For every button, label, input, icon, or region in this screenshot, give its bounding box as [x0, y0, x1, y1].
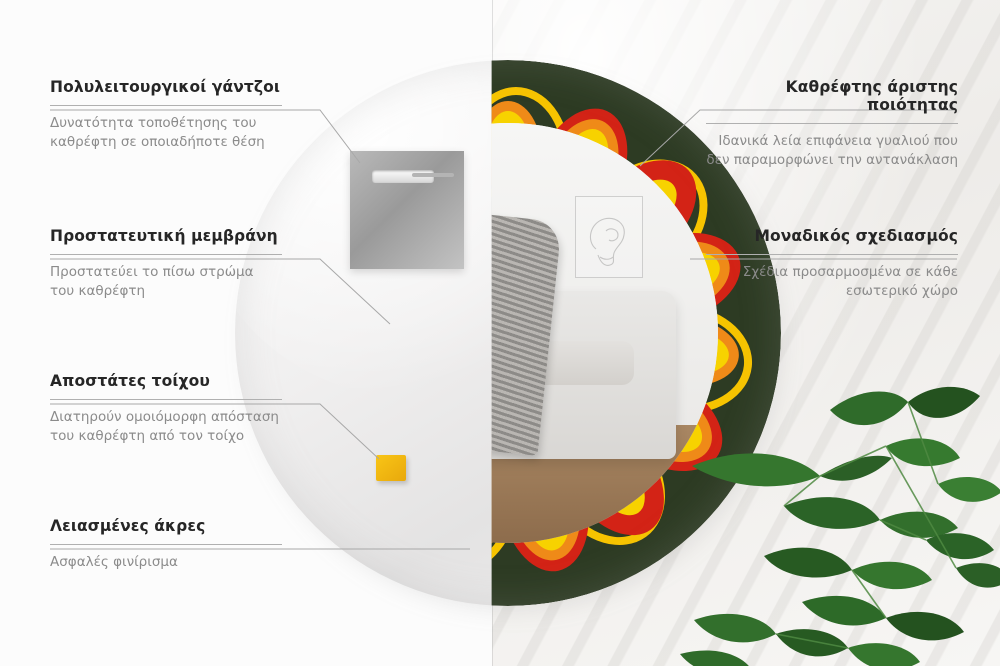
callout-description: Ιδανικά λεία επιφάνεια γυαλιού που δεν π… — [706, 132, 958, 170]
callout-title: Προστατευτική μεμβράνη — [50, 227, 282, 245]
leaf-cluster-icon — [680, 380, 1000, 666]
green-foliage-branch — [680, 380, 1000, 666]
callout-rule — [50, 254, 282, 255]
wall-spacer-block — [376, 455, 406, 481]
throw-fringe — [402, 412, 480, 490]
sofa-backrest — [351, 341, 634, 385]
hook-slot — [372, 170, 434, 183]
sofa-armrest — [337, 365, 394, 409]
callout-title: Μοναδικός σχεδιασμός — [706, 227, 958, 245]
mounting-hook-plate — [350, 151, 464, 269]
callout-description: Προστατεύει το πίσω στρώμα του καθρέφτη — [50, 263, 282, 301]
callout-title: Καθρέφτης άριστης ποιότητας — [706, 78, 958, 114]
callout-rule — [50, 399, 282, 400]
infographic-canvas: Πολυλειτουργικοί γάντζοι Δυνατότητα τοπο… — [0, 0, 1000, 666]
callout-description: Διατηρούν ομοιόμορφη απόσταση του καθρέφ… — [50, 408, 282, 446]
callout-top-quality-mirror: Καθρέφτης άριστης ποιότητας Ιδανικά λεία… — [706, 78, 958, 170]
face-line-art-icon — [576, 197, 640, 275]
callout-hooks: Πολυλειτουργικοί γάντζοι Δυνατότητα τοπο… — [50, 78, 282, 152]
callout-wall-spacers: Αποστάτες τοίχου Διατηρούν ομοιόμορφη απ… — [50, 372, 282, 446]
callout-title: Αποστάτες τοίχου — [50, 372, 282, 390]
callout-smoothed-edges: Λειασμένες άκρες Ασφαλές φινίρισμα — [50, 517, 282, 572]
reflected-floor — [298, 425, 718, 543]
callout-description: Ασφαλές φινίρισμα — [50, 553, 282, 572]
callout-rule — [50, 105, 282, 106]
callout-description: Σχέδια προσαρμοσμένα σε κάθε εσωτερικό χ… — [706, 263, 958, 301]
line-art-picture-frame — [575, 196, 643, 278]
callout-rule — [706, 254, 958, 255]
callout-title: Λειασμένες άκρες — [50, 517, 282, 535]
callout-rule — [50, 544, 282, 545]
callout-rule — [706, 123, 958, 124]
callout-protective-membrane: Προστατευτική μεμβράνη Προστατεύει το πί… — [50, 227, 282, 301]
callout-title: Πολυλειτουργικοί γάντζοι — [50, 78, 282, 96]
callout-unique-design: Μοναδικός σχεδιασμός Σχέδια προσαρμοσμέν… — [706, 227, 958, 301]
reflected-sofa — [323, 291, 676, 459]
callout-description: Δυνατότητα τοποθέτησης του καθρέφτη σε ο… — [50, 114, 282, 152]
